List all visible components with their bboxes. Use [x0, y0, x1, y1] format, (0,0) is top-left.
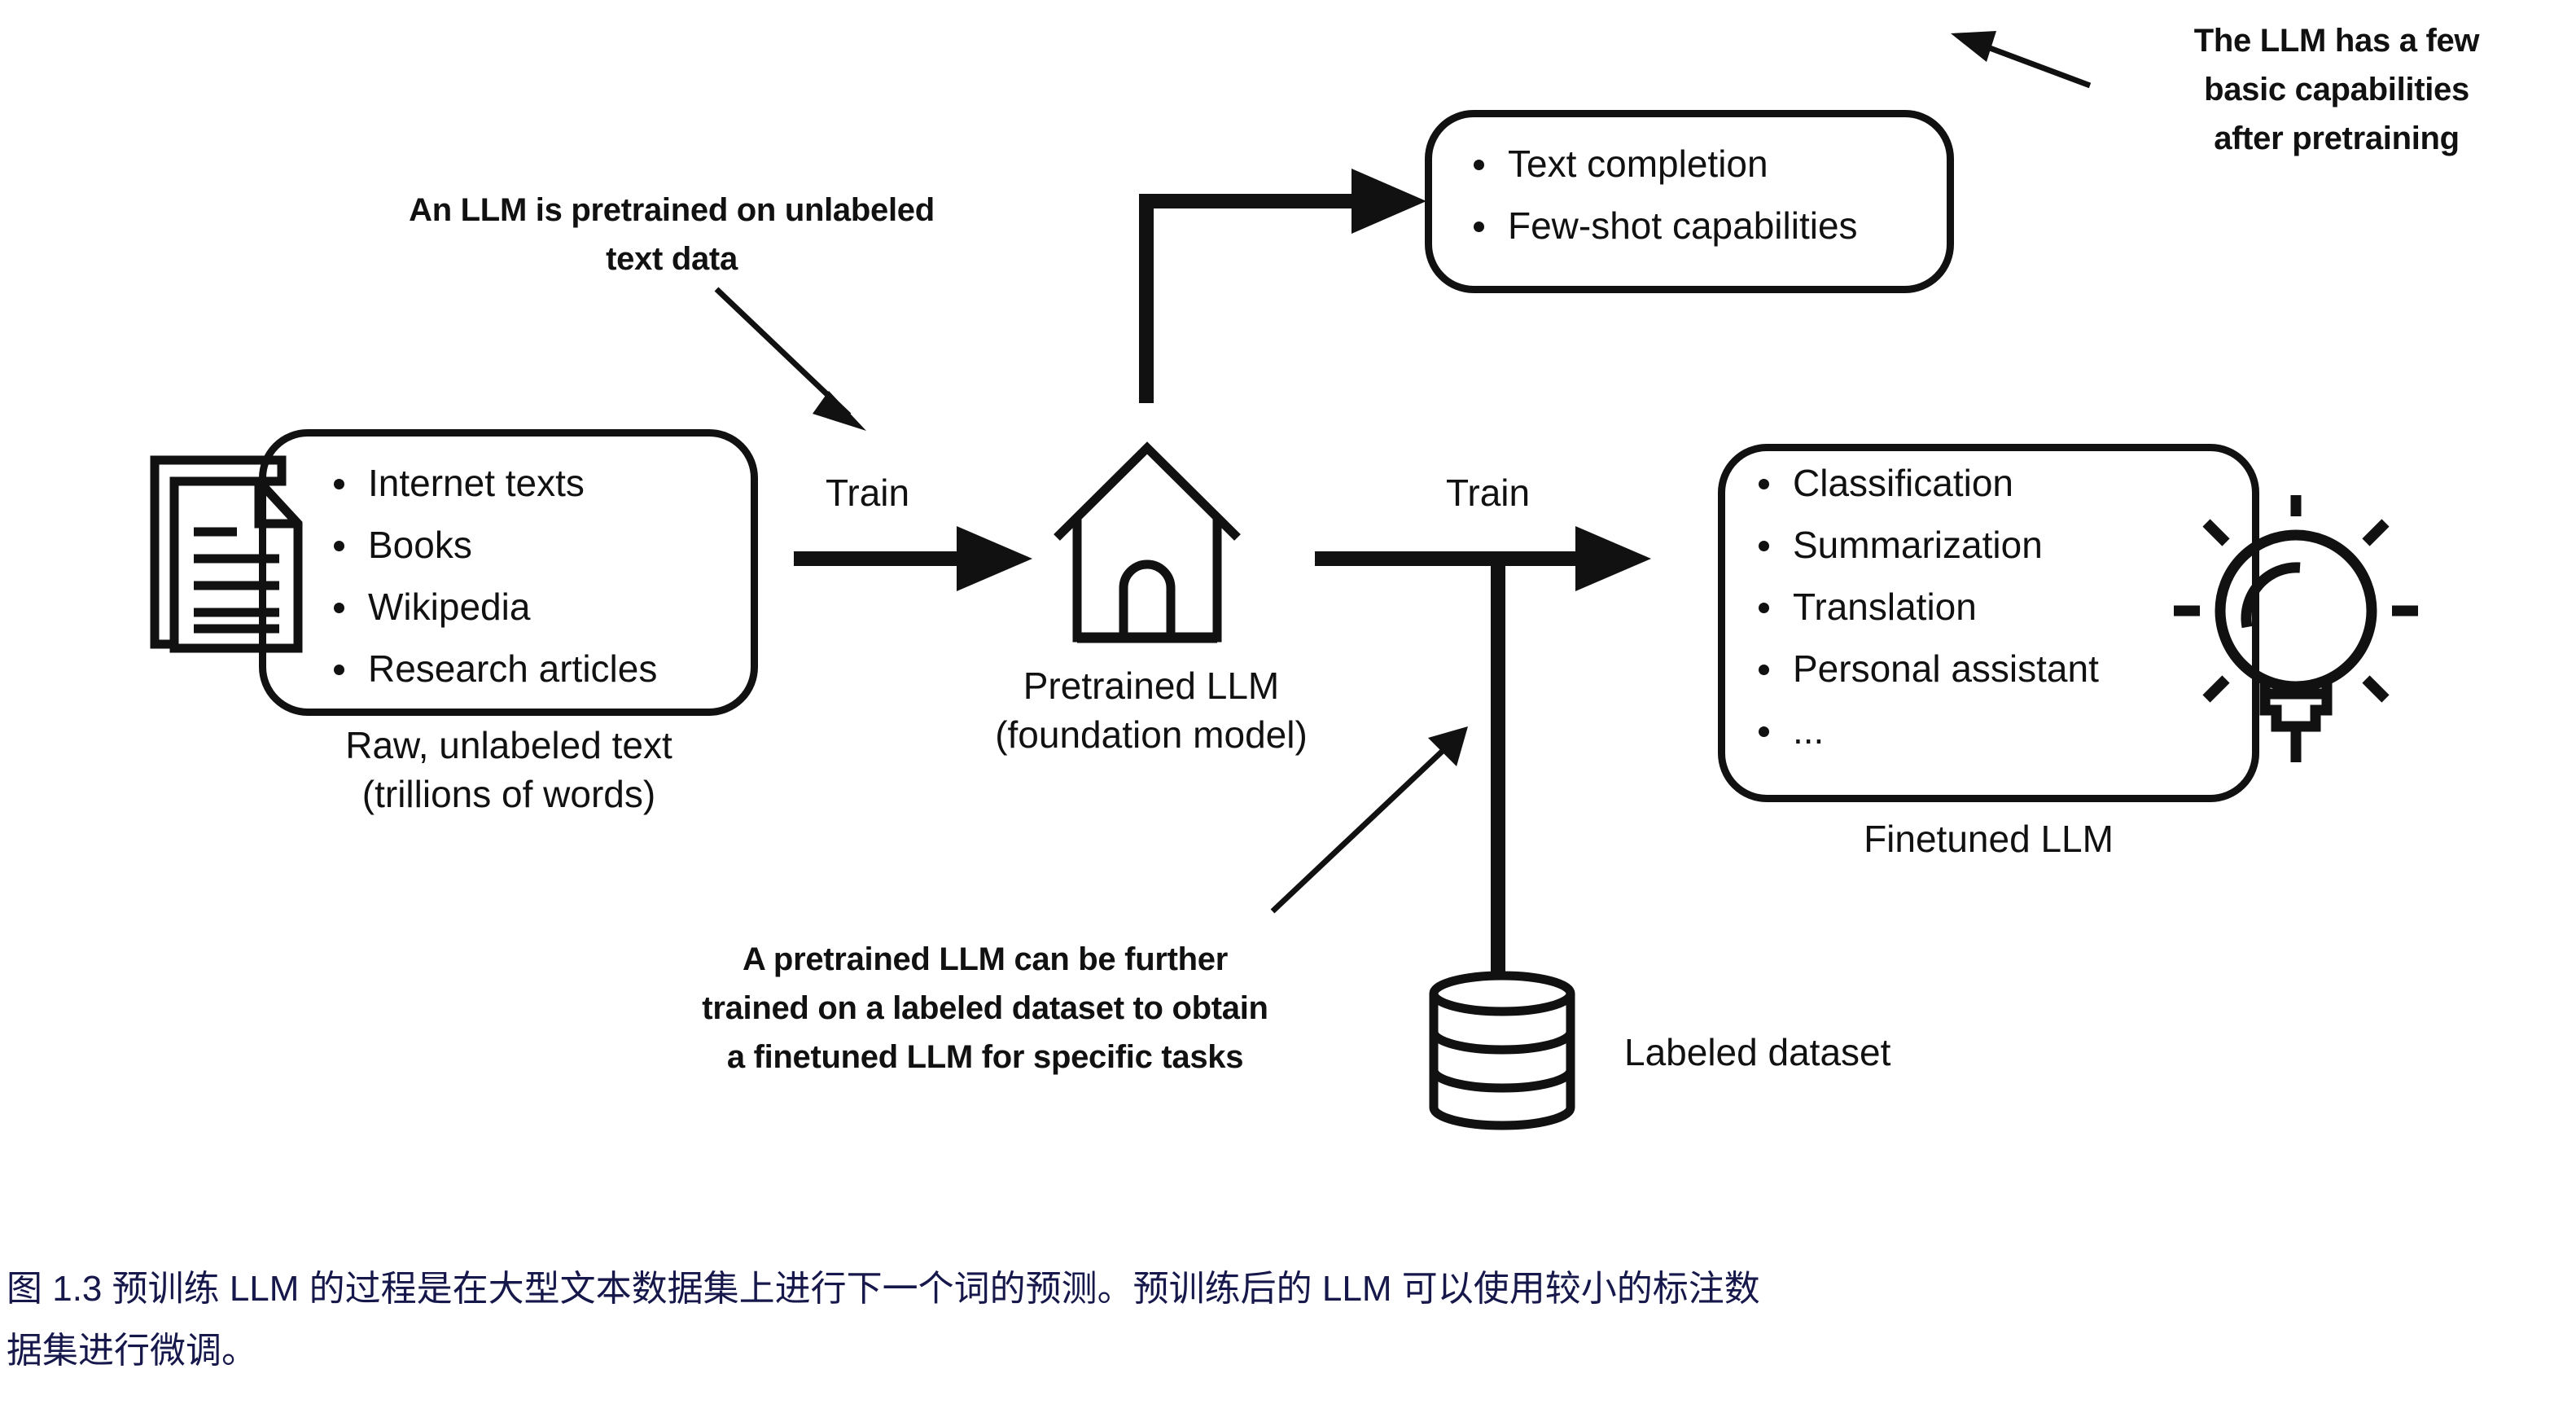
lightbulb-icon — [2166, 489, 2426, 766]
labeled-dataset-label: Labeled dataset — [1624, 1028, 2080, 1077]
list-item: Wikipedia — [326, 576, 749, 638]
raw-text-label-line1: Raw, unlabeled text — [228, 721, 790, 770]
house-icon — [1050, 440, 1244, 656]
pointer-pretrain-note — [716, 289, 866, 431]
database-icon — [1421, 971, 1584, 1134]
train-finetune-label: Train — [1446, 471, 1530, 515]
raw-text-label-line2: (trillions of words) — [228, 770, 790, 818]
annotation-pretrain-line2: text data — [309, 235, 1034, 283]
raw-text-label: Raw, unlabeled text (trillions of words) — [228, 721, 790, 818]
finetuned-llm-label-line1: Finetuned LLM — [1718, 814, 2259, 863]
base-capabilities-bullet-list: Text completion Few-shot capabilities — [1465, 133, 1938, 257]
train-pretrain-label: Train — [826, 471, 909, 515]
annotation-pretrain-line1: An LLM is pretrained on unlabeled — [309, 186, 1034, 235]
figure-caption-line1: 图 1.3 预训练 LLM 的过程是在大型文本数据集上进行下一个词的预测。预训练… — [7, 1258, 2547, 1320]
list-item: Research articles — [326, 638, 749, 700]
arrow-pretrained-to-capabilities — [1146, 169, 1426, 403]
list-item: Books — [326, 514, 749, 576]
labeled-dataset-label-line1: Labeled dataset — [1624, 1028, 2080, 1077]
annotation-finetune-line2: trained on a labeled dataset to obtain — [619, 984, 1352, 1033]
figure-caption: 图 1.3 预训练 LLM 的过程是在大型文本数据集上进行下一个词的预测。预训练… — [7, 1258, 2547, 1382]
annotation-finetune-line1: A pretrained LLM can be further — [619, 935, 1352, 984]
annotation-finetune-line3: a finetuned LLM for specific tasks — [619, 1033, 1352, 1082]
list-item: Text completion — [1465, 133, 1938, 195]
list-item: Few-shot capabilities — [1465, 195, 1938, 257]
annotation-capabilities-line3: after pretraining — [2084, 114, 2576, 163]
arrow-train-pretrain — [794, 526, 1032, 591]
annotation-capabilities-line1: The LLM has a few — [2084, 16, 2576, 65]
pretrained-llm-label-line1: Pretrained LLM — [923, 661, 1379, 710]
pretrained-llm-label-line2: (foundation model) — [923, 710, 1379, 759]
list-item: Internet texts — [326, 452, 749, 514]
pretrained-llm-label: Pretrained LLM (foundation model) — [923, 661, 1379, 759]
annotation-capabilities-line2: basic capabilities — [2084, 65, 2576, 114]
finetuned-llm-label: Finetuned LLM — [1718, 814, 2259, 863]
annotation-capabilities-note: The LLM has a few basic capabilities aft… — [2084, 16, 2576, 163]
raw-text-bullet-list: Internet texts Books Wikipedia Research … — [326, 452, 749, 700]
annotation-finetune-note: A pretrained LLM can be further trained … — [619, 935, 1352, 1082]
annotation-pretrain-note: An LLM is pretrained on unlabeled text d… — [309, 186, 1034, 283]
pointer-capabilities-note — [1951, 31, 2090, 86]
figure-caption-line2: 据集进行微调。 — [7, 1320, 2547, 1382]
figure-llm-pretraining-finetuning: Internet texts Books Wikipedia Research … — [0, 0, 2576, 1404]
documents-icon — [145, 450, 334, 693]
